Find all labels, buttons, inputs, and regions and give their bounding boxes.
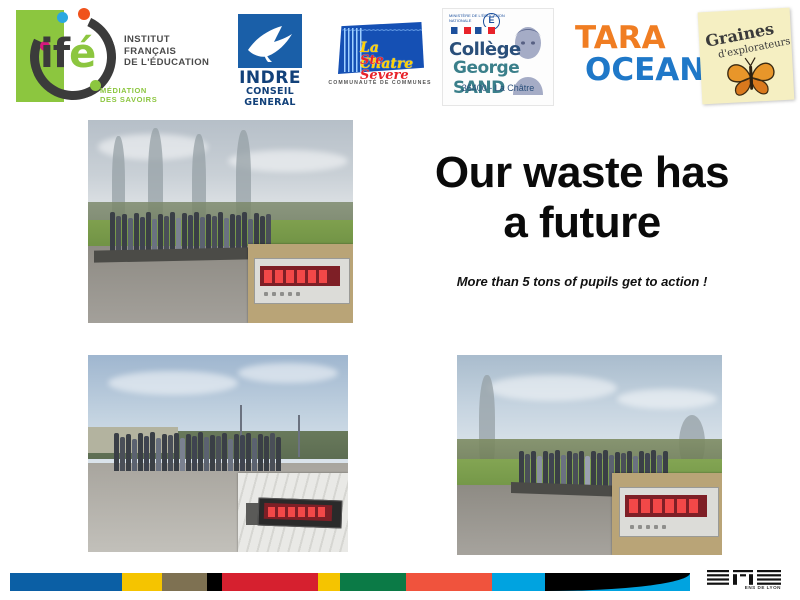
photo2-scale-inset (238, 473, 348, 552)
photo3-scale-inset (612, 473, 722, 555)
person (140, 217, 145, 252)
tara-line-1: TARA (575, 22, 695, 54)
person (258, 434, 263, 471)
person (252, 438, 257, 471)
person (198, 432, 203, 471)
scale-digit (264, 270, 272, 283)
ife-institut-line2: FRANÇAIS (124, 46, 209, 58)
person (116, 216, 121, 252)
person (126, 434, 131, 471)
slide-canvas: ifé INSTITUT FRANÇAIS DE L'ÉDUCATION MÉD… (0, 0, 800, 600)
person (228, 439, 233, 471)
scale-button (296, 292, 300, 296)
indre-name: INDRE (224, 68, 316, 88)
person (114, 433, 119, 471)
person (561, 455, 566, 487)
ife-wordmark-if: if (40, 31, 69, 77)
scale-digit (308, 507, 315, 517)
person (531, 451, 536, 487)
ife-institute-text: INSTITUT FRANÇAIS DE L'ÉDUCATION (124, 34, 209, 69)
person (242, 212, 247, 252)
chatre-name-2: Ste Severe (360, 53, 434, 83)
colorbar-segment-3 (207, 573, 222, 591)
photo2-lamppost-2 (298, 415, 300, 457)
person (174, 433, 179, 471)
ife-institut-line1: INSTITUT (124, 34, 209, 46)
person (188, 215, 193, 252)
colorbar-segment-1 (122, 573, 162, 591)
photo2-cloud-1 (108, 371, 238, 395)
colorbar-segment-2 (162, 573, 207, 591)
scale-digit (297, 270, 305, 283)
person (158, 214, 163, 252)
person (212, 216, 217, 252)
french-flag-icon-1 (451, 27, 471, 34)
scale-digit (689, 499, 698, 513)
scale-button (272, 292, 276, 296)
logo-ife: ifé INSTITUT FRANÇAIS DE L'ÉDUCATION MÉD… (12, 6, 212, 110)
person (170, 212, 175, 252)
ens-caption: ENS DE LYON (707, 585, 781, 590)
footer-colorbar-tail (545, 573, 690, 591)
scale-button (654, 525, 658, 529)
page-subtitle: More than 5 tons of pupils get to action… (404, 274, 760, 289)
person (176, 218, 181, 252)
ife-tagline-line1: MÉDIATION (100, 86, 157, 95)
person (192, 436, 197, 471)
person (230, 214, 235, 252)
person (120, 437, 125, 471)
scale-button (638, 525, 642, 529)
tara-line-2: OCEANS (585, 54, 695, 86)
scale-digit (665, 499, 674, 513)
page-title: Our waste has a future (404, 148, 760, 248)
scale-digit (275, 270, 283, 283)
ife-institut-line3: DE L'ÉDUCATION (124, 57, 209, 69)
college-line-3: 36400 - La Châtre (443, 83, 553, 93)
page-title-line-2: a future (404, 198, 760, 248)
scale-digit (629, 499, 638, 513)
person (236, 215, 241, 252)
person (200, 217, 205, 252)
photo3-cloud-1 (487, 375, 617, 401)
person (234, 434, 239, 471)
person (549, 453, 554, 487)
ife-wordmark: ifé (40, 34, 95, 74)
photo1-scale-inset (248, 244, 353, 323)
person (276, 437, 281, 471)
scale-digit (319, 270, 327, 283)
scale-digit (653, 499, 662, 513)
ens-wordmark-icon (707, 570, 781, 585)
logo-college-george-sand: MINISTÈRE DE L'ÉDUCATION NATIONALE E Col… (442, 8, 554, 106)
logo-la-chatre: ~~~~~~~~~~~~~~~~~~~~ La Chatre Ste Sever… (326, 20, 434, 94)
person (591, 451, 596, 487)
logo-ens-de-lyon: ENS DE LYON (707, 570, 781, 592)
scale-digit (641, 499, 650, 513)
photo-weighing-2 (88, 355, 348, 552)
scale-button (646, 525, 650, 529)
person (150, 432, 155, 471)
person (567, 451, 572, 487)
person (204, 437, 209, 471)
photo-weighing-3 (457, 355, 722, 555)
scale-digit (318, 507, 325, 517)
scale-digit (298, 507, 305, 517)
person (162, 434, 167, 471)
scale-button (280, 292, 284, 296)
person (597, 453, 602, 487)
title-block: Our waste has a future More than 5 tons … (404, 148, 760, 289)
person (146, 212, 151, 252)
scale-digit (268, 507, 275, 517)
person (579, 451, 584, 487)
scale-digit (677, 499, 686, 513)
person (216, 436, 221, 471)
person (603, 450, 608, 487)
colorbar-segment-0 (10, 573, 122, 591)
person (152, 219, 157, 252)
person (138, 433, 143, 471)
ife-dot-orange (78, 8, 90, 20)
ife-wordmark-e: é (69, 31, 95, 77)
chatre-squiggle-decor: ~~~~~~~~~~~~~~~~~~~~ (342, 25, 422, 41)
french-flag-icon-2 (475, 27, 495, 34)
colorbar-segment-5 (318, 573, 340, 591)
header-logo-strip: ifé INSTITUT FRANÇAIS DE L'ÉDUCATION MÉD… (0, 0, 800, 112)
scale-digit (308, 270, 316, 283)
scale-button (662, 525, 666, 529)
person (555, 450, 560, 487)
logo-indre: INDRE CONSEIL GENERAL (224, 14, 316, 100)
person (573, 453, 578, 487)
scale-button (288, 292, 292, 296)
person (206, 214, 211, 252)
ife-tagline: MÉDIATION DES SAVOIRS (100, 86, 157, 104)
photo2-crowd (114, 431, 281, 471)
person (122, 214, 127, 252)
person (585, 456, 590, 487)
photo-weighing-1 (88, 120, 353, 323)
person (182, 213, 187, 252)
person (194, 212, 199, 252)
chatre-caption: COMMUNAUTÉ DE COMMUNES (326, 80, 434, 86)
person (164, 216, 169, 252)
person (168, 435, 173, 471)
logo-tara-oceans: TARA OCEANS (575, 22, 695, 92)
logo-graines-explorateurs: Graines d'explorateurs (698, 8, 795, 105)
page-title-line-1: Our waste has (404, 148, 760, 198)
person (132, 439, 137, 471)
scale-digit (278, 507, 285, 517)
person (110, 212, 115, 252)
person (222, 433, 227, 471)
person (270, 433, 275, 471)
person (134, 213, 139, 252)
ife-dot-blue (57, 12, 68, 23)
scale-digit (288, 507, 295, 517)
footer: ENS DE LYON (0, 566, 800, 600)
person (186, 434, 191, 471)
person (240, 435, 245, 471)
person (246, 433, 251, 471)
person (210, 435, 215, 471)
footer-colorbar (10, 573, 545, 591)
butterfly-icon (722, 52, 780, 99)
dove-icon (242, 20, 298, 64)
scale-button (630, 525, 634, 529)
photo3-cloud-2 (617, 389, 717, 409)
photo2-cloud-2 (238, 363, 338, 383)
scale-buttons (264, 292, 300, 296)
colorbar-segment-4 (222, 573, 318, 591)
person (264, 436, 269, 471)
person (180, 438, 185, 471)
college-line-1: Collège (449, 39, 521, 60)
photo1-crowd (110, 210, 271, 252)
scale-buttons (630, 525, 666, 529)
scale-button (264, 292, 268, 296)
ife-tagline-line2: DES SAVOIRS (100, 95, 157, 104)
colorbar-segment-6 (340, 573, 406, 591)
colorbar-segment-8 (492, 573, 545, 591)
indre-sub: CONSEIL GENERAL (224, 86, 316, 108)
person (156, 438, 161, 471)
scale-digit (286, 270, 294, 283)
person (128, 218, 133, 252)
person (144, 436, 149, 471)
colorbar-segment-7 (406, 573, 492, 591)
person (543, 451, 548, 487)
person (218, 212, 223, 252)
